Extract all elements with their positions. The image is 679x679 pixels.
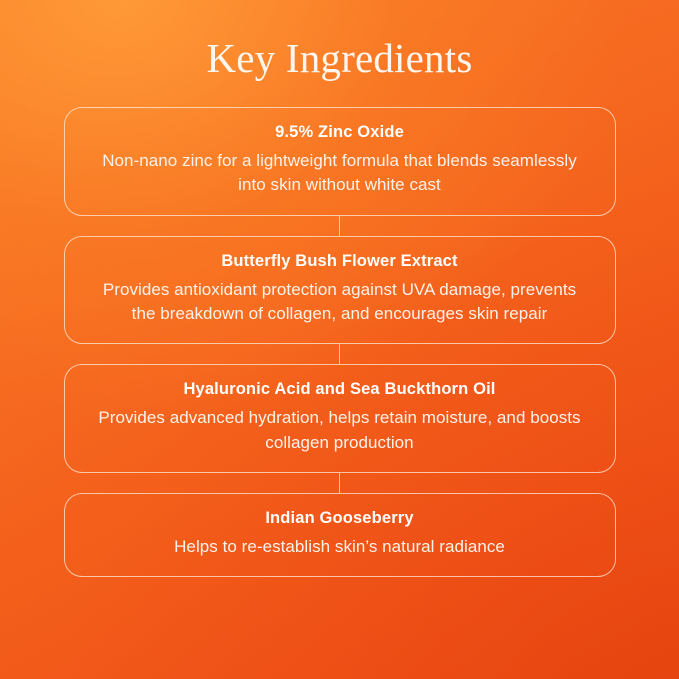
ingredient-card-hyaluronic-acid-sea-buckthorn-oil: Hyaluronic Acid and Sea Buckthorn Oil Pr…: [64, 364, 616, 473]
ingredient-card-indian-gooseberry: Indian Gooseberry Helps to re-establish …: [64, 493, 616, 577]
ingredient-card-butterfly-bush-flower-extract: Butterfly Bush Flower Extract Provides a…: [64, 236, 616, 345]
connector-line: [339, 216, 340, 236]
ingredient-name: Butterfly Bush Flower Extract: [91, 250, 589, 272]
ingredient-description: Provides advanced hydration, helps retai…: [91, 406, 589, 454]
ingredient-description: Non-nano zinc for a lightweight formula …: [91, 149, 589, 197]
ingredient-name: Hyaluronic Acid and Sea Buckthorn Oil: [91, 378, 589, 400]
connector-line: [339, 344, 340, 364]
connector-line: [339, 473, 340, 493]
ingredient-card-zinc-oxide: 9.5% Zinc Oxide Non-nano zinc for a ligh…: [64, 107, 616, 216]
page-title: Key Ingredients: [207, 36, 473, 81]
ingredient-description: Helps to re-establish skin’s natural rad…: [91, 535, 589, 559]
ingredient-name: Indian Gooseberry: [91, 507, 589, 529]
ingredient-card-stack: 9.5% Zinc Oxide Non-nano zinc for a ligh…: [64, 107, 616, 577]
key-ingredients-infographic: Key Ingredients 9.5% Zinc Oxide Non-nano…: [0, 0, 679, 679]
ingredient-name: 9.5% Zinc Oxide: [91, 121, 589, 143]
ingredient-description: Provides antioxidant protection against …: [91, 278, 589, 326]
